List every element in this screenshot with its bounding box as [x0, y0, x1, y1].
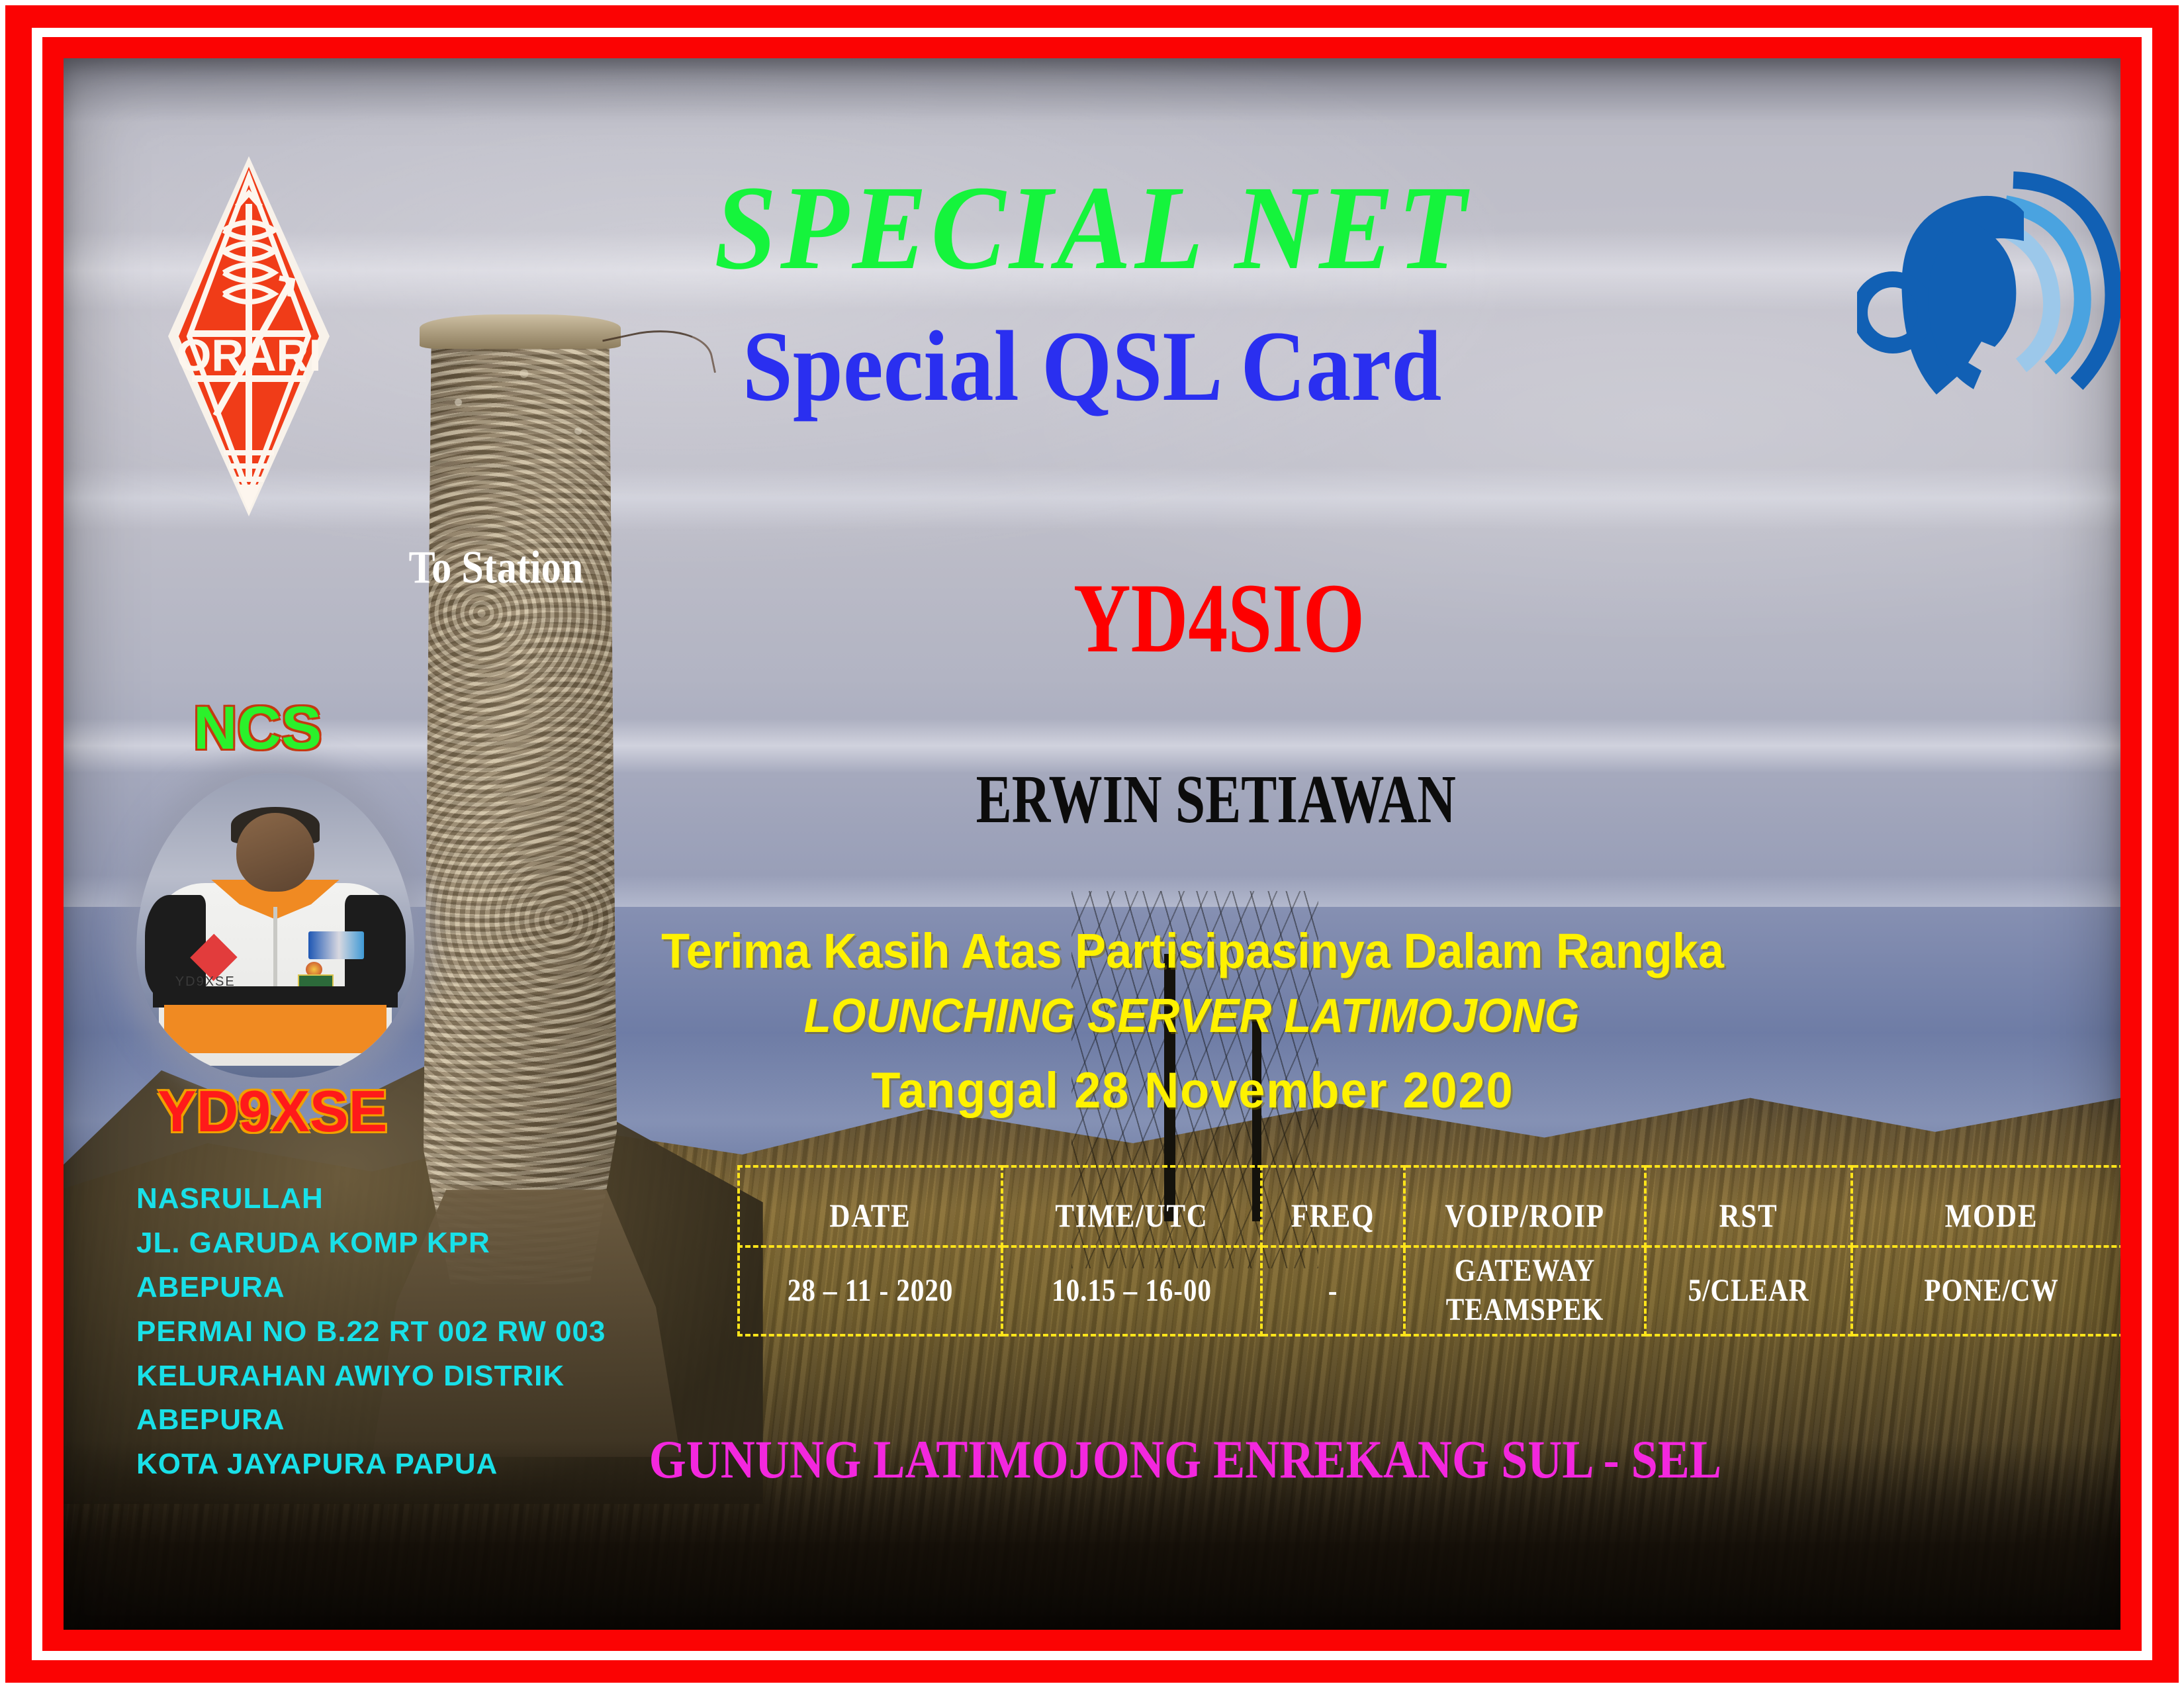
cell-freq: -	[1271, 1246, 1394, 1335]
address-line: ABEPURA	[136, 1266, 732, 1310]
operator-name: ERWIN SETIAWAN	[414, 760, 2018, 839]
table-row: 28 – 11 - 2020 10.15 – 16-00 - GATEWAY T…	[739, 1246, 2120, 1335]
cell-rst: 5/CLEAR	[1660, 1246, 1837, 1335]
address-line: NASRULLAH	[136, 1177, 732, 1221]
address-line: JL. GARUDA KOMP KPR	[136, 1221, 732, 1266]
table-header-row: DATE TIME/UTC FREQ VOIP/ROIP RST MODE	[739, 1166, 2120, 1246]
address-line: KELURAHAN AWIYO DISTRIK	[136, 1354, 732, 1399]
face	[236, 813, 314, 892]
column-header-rst: RST	[1660, 1166, 1837, 1246]
qsl-card: ORARI	[0, 0, 2184, 1688]
event-line-1: Terima Kasih Atas Partisipasinya Dalam R…	[216, 923, 2120, 979]
column-header-date: DATE	[757, 1166, 983, 1246]
column-header-time: TIME/UTC	[1020, 1166, 1243, 1246]
column-header-mode: MODE	[1872, 1166, 2112, 1246]
event-date: Tanggal 28 November 2020	[216, 1062, 2120, 1119]
ncs-label: NCS	[193, 694, 322, 763]
column-header-voip: VOIP/ROIP	[1421, 1166, 1628, 1246]
page-subtitle: Special QSL Card	[166, 308, 2017, 424]
cell-voip-line2: TEAMSPEK	[1423, 1291, 1627, 1330]
location-text: GUNUNG LATIMOJONG ENREKANG SUL - SEL	[280, 1429, 2090, 1491]
station-callsign: YD4SIO	[396, 561, 2042, 675]
column-header-freq: FREQ	[1271, 1166, 1394, 1246]
address-line: PERMAI NO B.22 RT 002 RW 003	[136, 1310, 732, 1354]
cell-voip-line1: GATEWAY	[1423, 1252, 1627, 1291]
ncs-callsign: YD9XSE	[158, 1078, 387, 1145]
cell-date: 28 – 11 - 2020	[757, 1246, 983, 1335]
background-photograph: ORARI	[64, 58, 2120, 1630]
event-line-2: LOUNCHING SERVER LATIMOJONG	[225, 989, 2120, 1043]
cell-mode: PONE/CW	[1872, 1246, 2112, 1335]
cell-time: 10.15 – 16-00	[1020, 1246, 1243, 1335]
page-title: SPECIAL NET	[136, 159, 2048, 297]
cell-voip: GATEWAY TEAMSPEK	[1421, 1246, 1628, 1335]
qso-log-table: DATE TIME/UTC FREQ VOIP/ROIP RST MODE 28…	[737, 1165, 2120, 1336]
